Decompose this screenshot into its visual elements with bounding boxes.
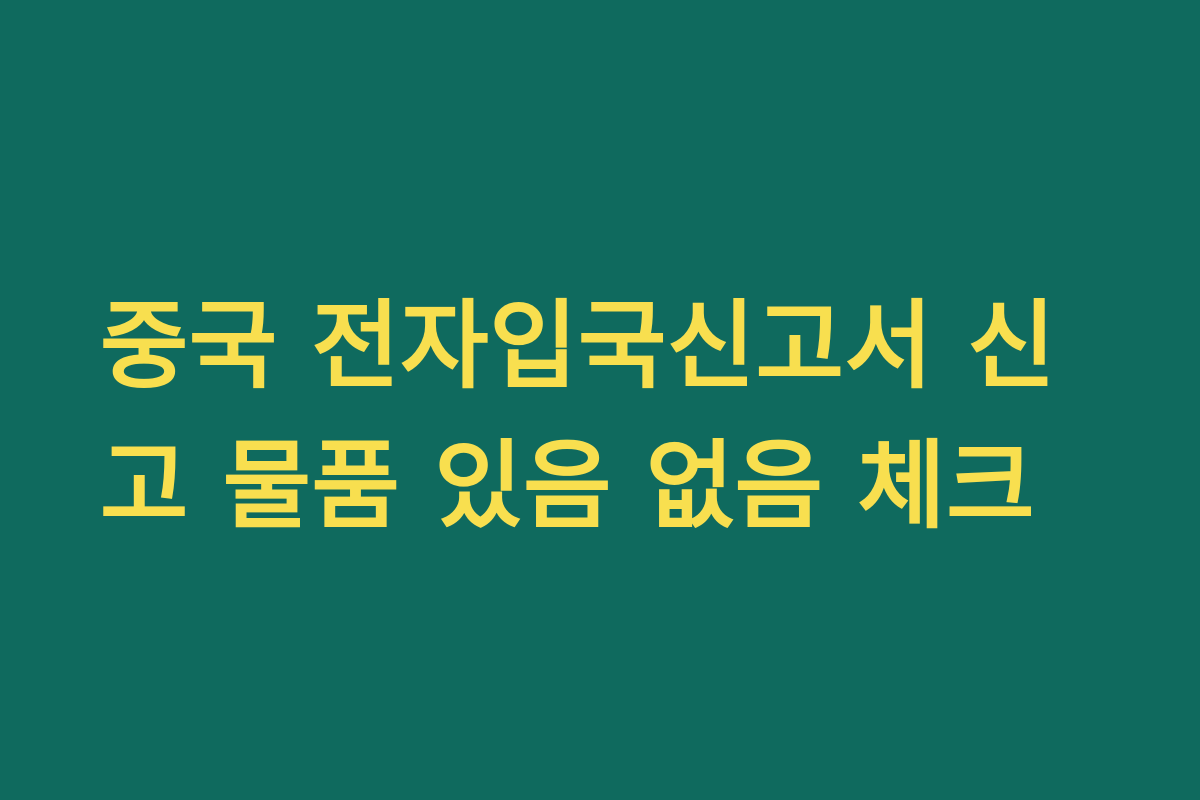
headline-text-block: 중국 전자입국신고서 신 고 물품 있음 없음 체크	[100, 276, 1110, 556]
headline-line-2: 고 물품 있음 없음 체크	[100, 416, 1110, 556]
headline-line-1: 중국 전자입국신고서 신	[100, 276, 1110, 416]
thumbnail-canvas: 중국 전자입국신고서 신 고 물품 있음 없음 체크	[0, 0, 1200, 800]
